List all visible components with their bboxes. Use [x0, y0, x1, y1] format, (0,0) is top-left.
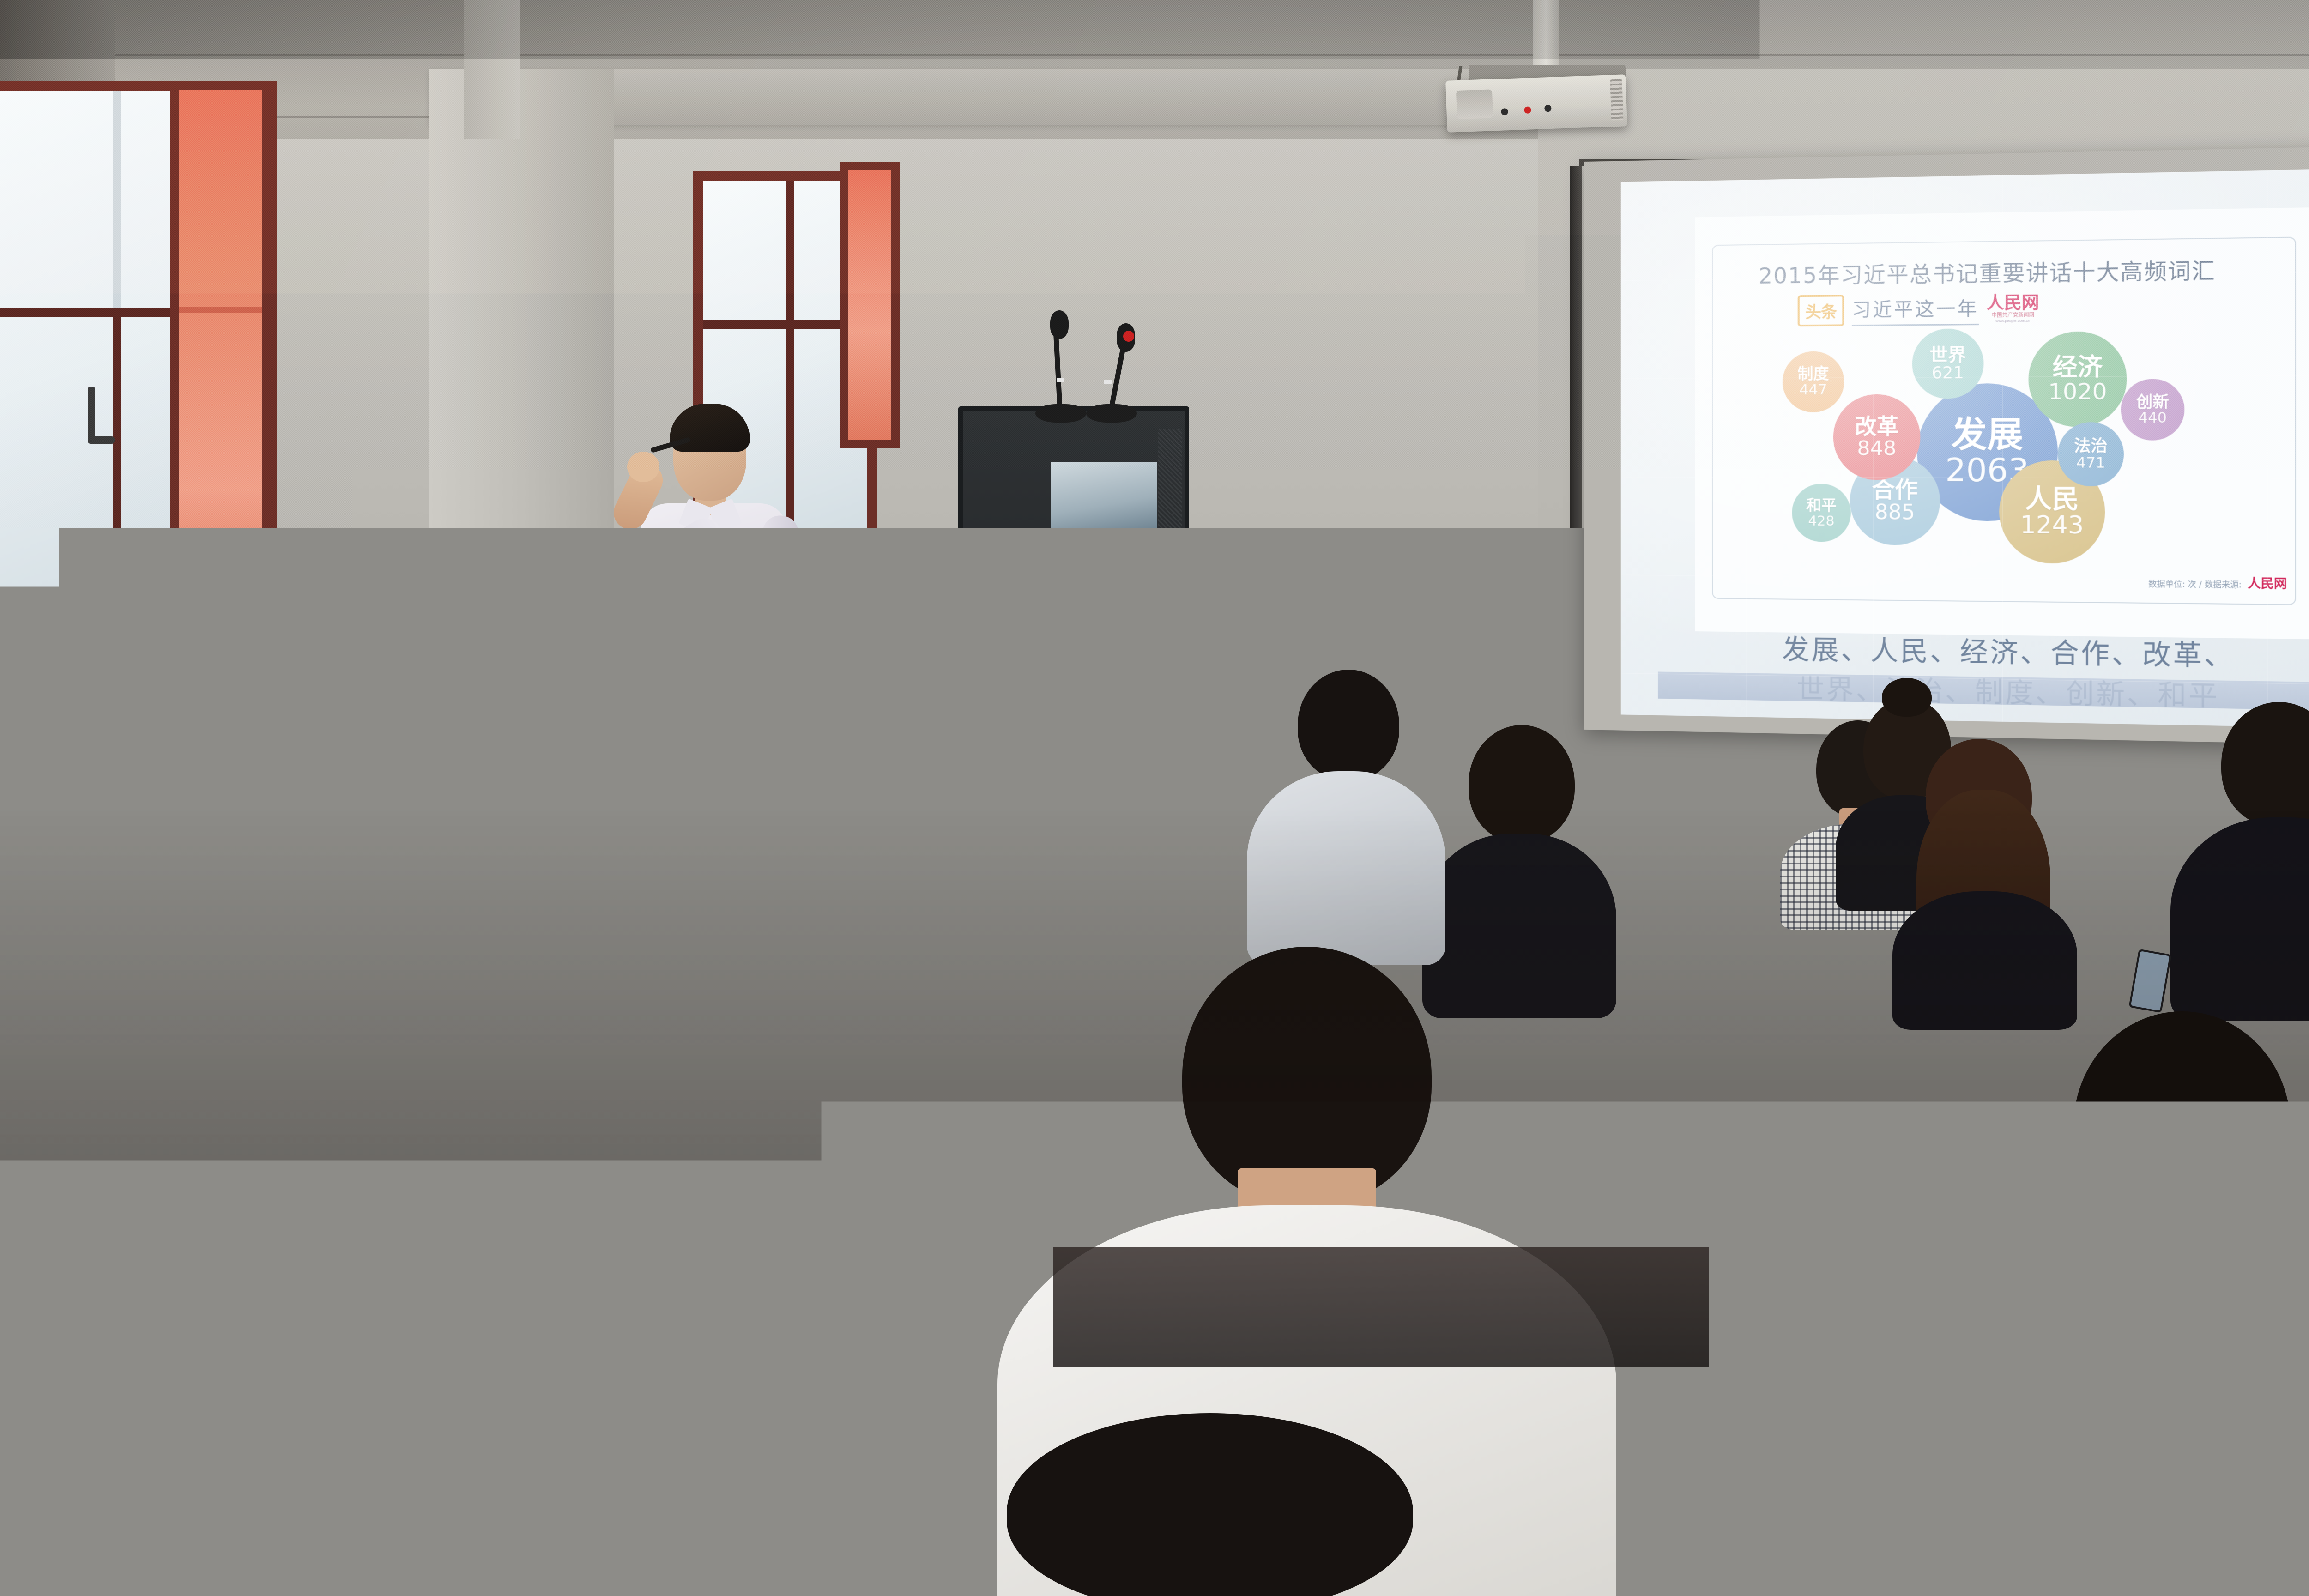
bubble-label: 人民	[2025, 485, 2079, 513]
bubble-label: 制度	[1798, 366, 1829, 383]
bubble-3: 经济1020	[2029, 331, 2127, 427]
audience-member-bottom-center	[961, 1413, 1505, 1596]
bubble-value: 447	[1799, 382, 1827, 398]
bubble-8: 制度447	[1783, 351, 1844, 412]
bubble-value: 885	[1875, 502, 1915, 524]
audience-member-back-right-dark	[2170, 702, 2309, 1016]
torso	[1892, 891, 2077, 1030]
bubble-label: 发展	[1951, 417, 2023, 454]
audience-member-back-curly	[1884, 739, 2083, 997]
slide-subtitle-row: 头条 习近平这一年 人民网 中国共产党新闻网 www.people.com.cn	[1798, 291, 2206, 326]
bubble-label: 和平	[1806, 498, 1837, 514]
key-icon	[655, 738, 662, 757]
paper-cup-on-sill	[119, 628, 152, 654]
tea-glass-cup	[1672, 858, 1716, 940]
head	[2221, 702, 2309, 827]
lecture-hall-photo: 2015年习近平总书记重要讲话十大高频词汇 头条 习近平这一年 人民网 中国共产…	[0, 0, 2309, 1596]
ceiling-projector	[1445, 74, 1627, 133]
hair-bun	[1882, 678, 1932, 717]
projector-power-led	[1524, 106, 1531, 114]
bubble-7: 法治471	[2058, 422, 2124, 486]
bubble-6: 世界621	[1912, 328, 1984, 399]
window-red-panel-center	[840, 162, 900, 448]
microphone-base-left	[1035, 404, 1086, 423]
bubble-label: 合作	[1872, 478, 1918, 502]
slide-card: 2015年习近平总书记重要讲话十大高频词汇 头条 习近平这一年 人民网 中国共产…	[1712, 237, 2296, 605]
bubble-label: 法治	[2074, 438, 2108, 455]
bubble-9: 创新440	[2121, 379, 2185, 440]
microphone-head-left	[1050, 310, 1069, 339]
bubble-value: 428	[1808, 514, 1835, 528]
screen-surface: 2015年习近平总书记重要讲话十大高频词汇 头条 习近平这一年 人民网 中国共产…	[1621, 168, 2309, 730]
presenter-trouser-seam	[723, 739, 727, 887]
publisher-mark: 人民网	[1987, 294, 2039, 312]
keyring-icon	[652, 711, 663, 722]
projector-mount-pole	[1533, 0, 1559, 69]
publisher-line2: www.people.com.cn	[1995, 319, 2030, 323]
bubble-5: 改革848	[1833, 394, 1921, 480]
screen-left-edge	[1570, 166, 1582, 734]
bubble-label: 创新	[2136, 394, 2169, 411]
torso	[0, 1122, 180, 1279]
bubble-label: 经济	[2052, 355, 2103, 381]
torso	[1921, 1210, 2309, 1596]
head	[1469, 725, 1575, 843]
microphone-ring-left	[1057, 378, 1064, 382]
bubble-value: 1243	[2020, 513, 2084, 538]
slide-subtitle: 习近平这一年	[1852, 293, 1979, 326]
torso	[2170, 817, 2309, 1021]
audience-member-front-right-check	[1921, 1011, 2309, 1596]
slide-topic-badge: 头条	[1798, 295, 1844, 326]
bubble-value: 621	[1932, 364, 1964, 382]
presenter-hair	[670, 404, 750, 452]
microphone-base-right	[1086, 404, 1137, 423]
presenter-hand	[627, 452, 659, 482]
projector-lens	[1456, 89, 1493, 119]
publisher-line1: 中国共产党新闻网	[1991, 313, 2034, 318]
bench-shadow-left	[0, 868, 342, 988]
tea-glass-lid	[1669, 851, 1719, 863]
presenter-keychain	[649, 711, 665, 765]
audience-member-left-far	[0, 1007, 185, 1265]
bubble-value: 848	[1857, 438, 1896, 459]
projector-vent	[1610, 79, 1623, 121]
slide-data-note: 数据单位: 次 / 数据来源:	[2148, 577, 2242, 590]
microphone-ring-right	[1104, 380, 1112, 384]
presenter-shirt-placket	[723, 513, 727, 688]
audience-member-mid-grey-left	[1247, 670, 1445, 956]
head	[550, 771, 656, 887]
footer-publisher-logo: 人民网	[2248, 578, 2287, 591]
head	[1182, 947, 1432, 1205]
wall-corner-bevel	[464, 0, 520, 139]
publisher-logo: 人民网 中国共产党新闻网 www.people.com.cn	[1987, 294, 2039, 323]
head	[1298, 670, 1399, 780]
presenter-belt-buckle	[704, 694, 724, 711]
slide-footer: 数据单位: 次 / 数据来源: 人民网	[2009, 571, 2287, 595]
head	[1062, 693, 1187, 831]
slide-content: 2015年习近平总书记重要讲话十大高频词汇 头条 习近平这一年 人民网 中国共产…	[1695, 207, 2309, 640]
head	[74, 1376, 369, 1596]
audience-member-mid-green	[499, 771, 693, 1002]
water-bottle-red-cap	[1741, 1076, 1810, 1242]
head	[411, 674, 503, 778]
bottle-label-blue-band	[12, 1282, 73, 1298]
bubble-value: 1020	[2048, 380, 2107, 404]
torso	[499, 880, 693, 1014]
footer-publisher-mark: 人民网	[2248, 578, 2287, 591]
bubble-label: 世界	[1929, 345, 1966, 364]
projector-status-led-a	[1501, 108, 1508, 115]
bench-shadow-center	[1053, 1247, 1709, 1367]
bubble-value: 471	[2076, 455, 2105, 471]
bubble-10: 和平428	[1792, 484, 1851, 542]
window-red-panel-left	[170, 81, 272, 633]
bottle-label	[1755, 1157, 1797, 1191]
rack-glass-upper	[1051, 462, 1157, 531]
projector-status-led-b	[1544, 105, 1552, 112]
bubble-chart: 发展2063人民1243经济1020合作885改革848世界621法治471制度…	[1713, 325, 2297, 577]
bubble-value: 440	[2139, 411, 2167, 426]
head	[2073, 1011, 2291, 1242]
bottle-cap	[1750, 1089, 1802, 1118]
microphone-indicator-right	[1123, 331, 1134, 342]
projection-screen: 2015年习近平总书记重要讲话十大高频词汇 头条 习近平这一年 人民网 中国共产…	[1584, 145, 2309, 746]
slide-title: 2015年习近平总书记重要讲话十大高频词汇	[1749, 253, 2225, 290]
torso	[1247, 771, 1445, 965]
head	[1007, 1413, 1413, 1596]
audience-member-bottom-left	[18, 1376, 462, 1596]
bubble-label: 改革	[1855, 415, 1898, 438]
